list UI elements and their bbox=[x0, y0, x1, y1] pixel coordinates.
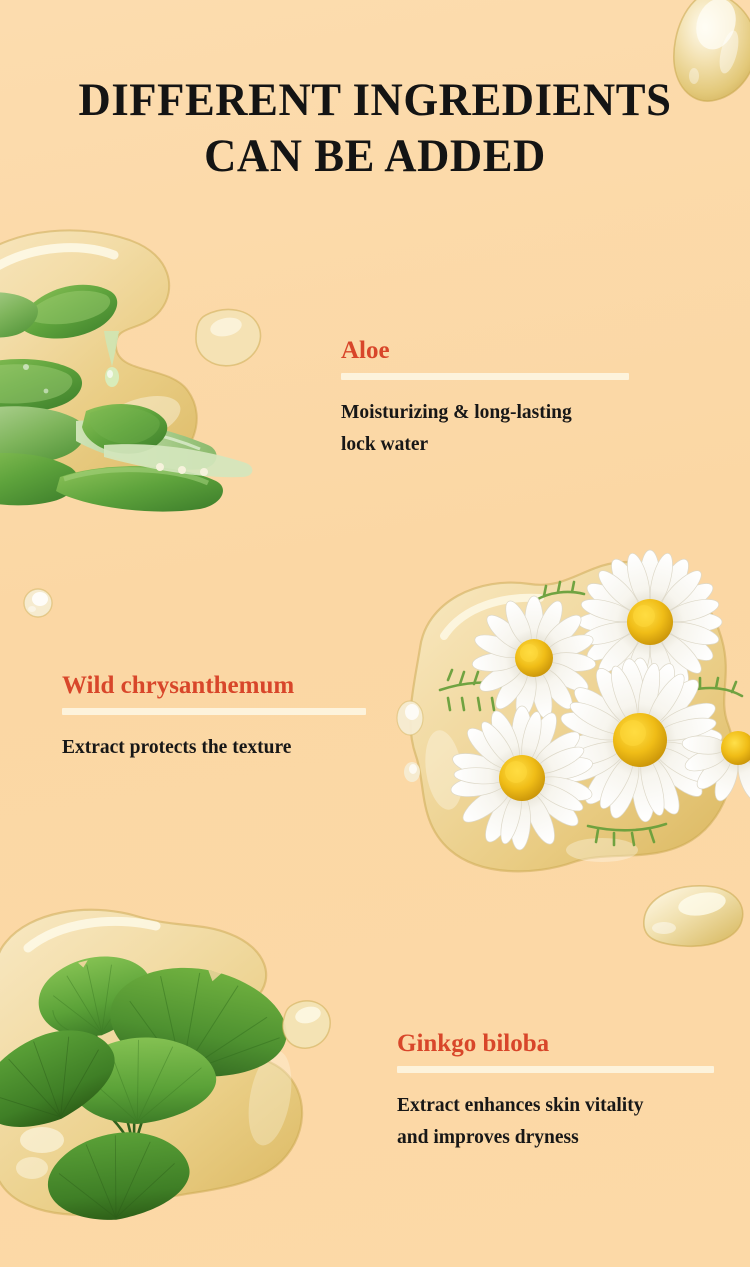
chamomile-illustration bbox=[392, 540, 750, 925]
ingredient-body-ginkgo: Extract enhances skin vitality and impro… bbox=[397, 1090, 715, 1154]
ingredient-card-aloe: Aloe Moisturizing & long-lasting lock wa… bbox=[341, 336, 631, 461]
ingredient-body-aloe: Moisturizing & long-lasting lock water bbox=[341, 397, 631, 461]
ingredient-body-aloe-line2: lock water bbox=[341, 429, 631, 461]
poster-title-line2: CAN BE ADDED bbox=[19, 128, 732, 184]
ingredient-body-ginkgo-line2: and improves dryness bbox=[397, 1122, 715, 1154]
poster-title: DIFFERENT INGREDIENTS CAN BE ADDED bbox=[0, 72, 750, 184]
ingredient-infographic-poster: DIFFERENT INGREDIENTS CAN BE ADDED bbox=[0, 0, 750, 1267]
ingredient-divider-chrysanthemum bbox=[62, 708, 366, 715]
ingredient-card-chrysanthemum: Wild chrysanthemum Extract protects the … bbox=[62, 671, 367, 764]
ingredient-body-aloe-line1: Moisturizing & long-lasting bbox=[341, 397, 631, 429]
ginkgo-illustration bbox=[0, 872, 364, 1267]
gel-droplet-left-icon bbox=[18, 583, 58, 623]
poster-title-line1: DIFFERENT INGREDIENTS bbox=[19, 72, 732, 128]
aloe-vera-illustration bbox=[0, 205, 324, 605]
ingredient-heading-chrysanthemum: Wild chrysanthemum bbox=[62, 671, 367, 701]
ingredient-card-ginkgo: Ginkgo biloba Extract enhances skin vita… bbox=[397, 1029, 715, 1154]
gel-droplet-right-icon bbox=[630, 872, 750, 958]
ingredient-body-chrysanthemum: Extract protects the texture bbox=[62, 732, 367, 764]
ingredient-body-chrysanthemum-line1: Extract protects the texture bbox=[62, 732, 367, 764]
ingredient-body-ginkgo-line1: Extract enhances skin vitality bbox=[397, 1090, 715, 1122]
ingredient-heading-ginkgo: Ginkgo biloba bbox=[397, 1029, 715, 1059]
ingredient-divider-aloe bbox=[341, 373, 629, 380]
ingredient-heading-aloe: Aloe bbox=[341, 336, 631, 366]
ingredient-divider-ginkgo bbox=[397, 1066, 714, 1073]
